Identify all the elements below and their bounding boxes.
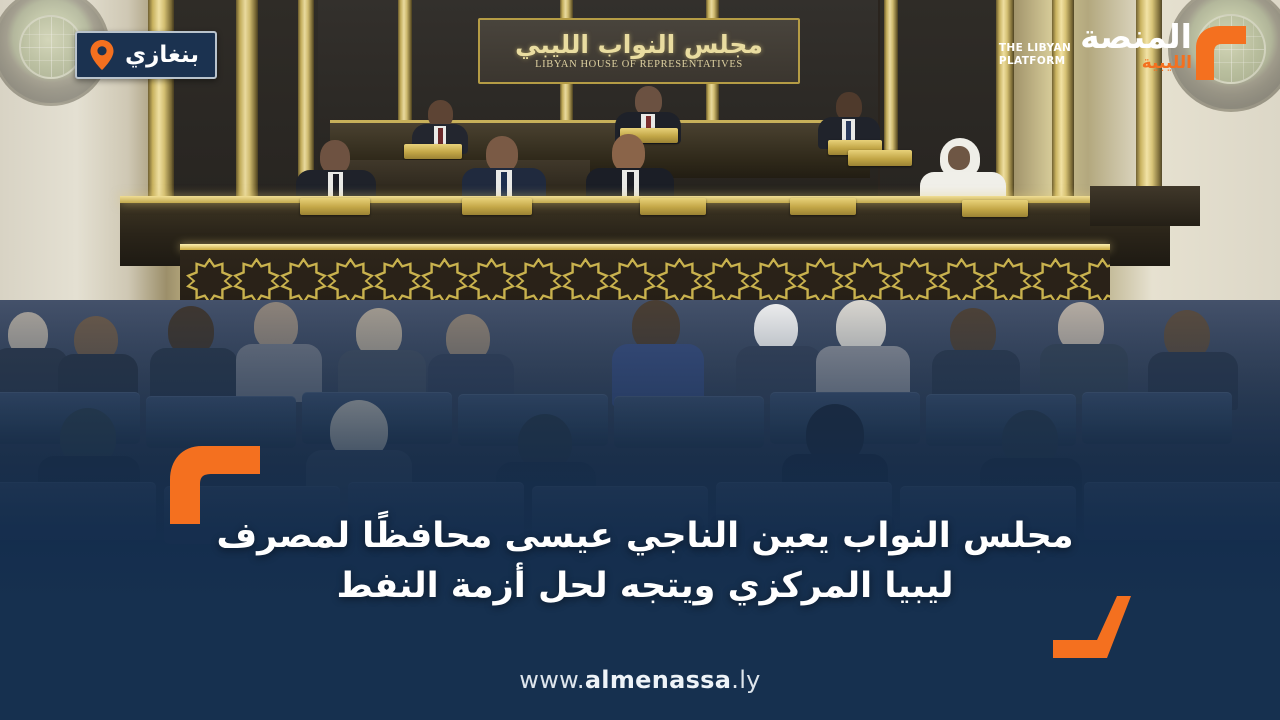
person-face [948,146,970,170]
nameplate [848,150,912,166]
brand-arabic-block: المنصة الليبية [1080,20,1192,74]
official-upper-right [818,92,880,140]
headline-text: مجلس النواب يعين الناجي عيسى محافظًا لمص… [215,512,1075,611]
side-desk-right [1090,186,1200,226]
signage-arabic-text: مجلس النواب الليبي [515,32,763,57]
brand-arabic-primary: المنصة [1080,20,1192,53]
person-head [320,140,350,174]
star-motif [891,258,938,305]
news-card: مجلس النواب الليبي LIBYAN HOUSE OF REPRE… [0,0,1280,720]
star-motif [656,258,703,305]
star-motif [1032,258,1079,305]
person-tie [846,121,851,142]
nameplate [462,198,532,215]
brand-logo[interactable]: THE LIBYAN PLATFORM المنصة الليبية [999,20,1192,74]
star-motif [562,258,609,305]
star-motif [327,258,374,305]
star-motif [938,258,985,305]
star-motif [985,258,1032,305]
official-upper-left [410,100,470,146]
brand-english-line1: THE LIBYAN [999,42,1071,54]
star-motif [703,258,750,305]
seal-globe [19,15,84,80]
star-motif [515,258,562,305]
location-badge[interactable]: بنغازي [75,31,217,79]
star-motif [468,258,515,305]
nameplate [962,200,1028,217]
star-motif [797,258,844,305]
person-head [486,136,518,172]
location-label: بنغازي [125,44,199,67]
url-tld: .ly [731,666,760,694]
nameplate [640,198,706,215]
person-head [612,134,645,172]
gold-pillar [884,0,898,150]
star-motif [280,258,327,305]
brand-english-line2: PLATFORM [999,55,1071,67]
star-motif [609,258,656,305]
star-motif [186,258,233,305]
signage-english-text: LIBYAN HOUSE OF REPRESENTATIVES [535,59,743,70]
brand-hook-icon [1190,22,1252,84]
footer-url[interactable]: www.almenassa.ly [0,666,1280,694]
location-pin-icon [89,39,115,71]
star-motif [233,258,280,305]
nameplate [300,198,370,215]
star-motif [421,258,468,305]
nameplate [790,198,856,215]
nameplate [404,144,462,159]
brand-arabic-secondary: الليبية [1142,53,1192,74]
hall-signage: مجلس النواب الليبي LIBYAN HOUSE OF REPRE… [478,18,800,84]
star-motif [750,258,797,305]
brand-english-block: THE LIBYAN PLATFORM [999,20,1071,67]
url-name: almenassa [585,666,731,694]
star-motif [1079,258,1110,305]
url-prefix: www. [519,666,585,694]
star-motif [374,258,421,305]
star-motif [844,258,891,305]
